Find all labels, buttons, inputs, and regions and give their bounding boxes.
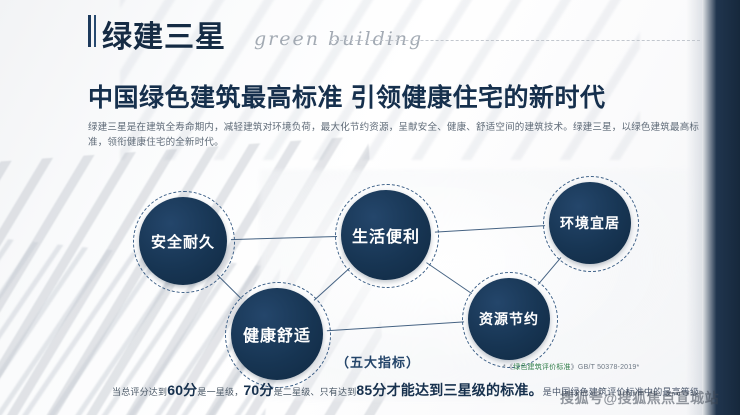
score-value-one-star: 60分 bbox=[167, 382, 197, 398]
accent-bar-icon bbox=[88, 15, 91, 47]
diagram-caption: （五大指标） bbox=[336, 352, 420, 371]
header-divider bbox=[330, 40, 700, 41]
scoring-text-3: 是二星级、只有达到 bbox=[274, 387, 357, 397]
diagram-node-1[interactable]: 安全耐久 bbox=[139, 197, 227, 285]
diagram-node-2[interactable]: 生活便利 bbox=[341, 190, 431, 280]
brand-script-subtitle: green building bbox=[254, 28, 423, 50]
brand-title: 绿建三星 bbox=[102, 12, 226, 56]
standard-book-title: 绿色建筑评价标准 bbox=[513, 364, 571, 371]
background-right-gradient bbox=[686, 0, 702, 415]
scoring-text-4: 才能达到三星级的标准。 bbox=[387, 382, 543, 398]
watermark: 搜狐号@搜狐焦点宣城站 bbox=[560, 388, 719, 408]
standard-prefix: *《 bbox=[503, 364, 513, 371]
standard-reference-note: *《绿色建筑评价标准》GB/T 50378-2019* bbox=[503, 362, 639, 372]
score-value-two-star: 70分 bbox=[243, 382, 273, 398]
page-title: 中国绿色建筑最高标准 引领健康住宅的新时代 bbox=[88, 78, 605, 114]
slide-root: 绿建三星 green building 中国绿色建筑最高标准 引领健康住宅的新时… bbox=[0, 0, 740, 415]
scoring-text-2: 是一星级， bbox=[197, 387, 243, 397]
standard-suffix: 》GB/T 50378-2019* bbox=[571, 364, 640, 371]
scoring-text-1: 当总评分达到 bbox=[112, 387, 167, 397]
diagram-node-4[interactable]: 健康舒适 bbox=[231, 288, 323, 380]
score-value-three-star: 85分 bbox=[356, 382, 386, 398]
intro-paragraph: 绿建三星是在建筑全寿命期内，减轻建筑对环境负荷，最大化节约资源，呈献安全、健康、… bbox=[88, 120, 708, 150]
diagram-node-5[interactable]: 资源节约 bbox=[468, 278, 550, 360]
accent-bar-secondary-icon bbox=[94, 15, 96, 47]
diagram-node-3[interactable]: 环境宜居 bbox=[549, 182, 631, 264]
background-right-band bbox=[702, 0, 740, 415]
